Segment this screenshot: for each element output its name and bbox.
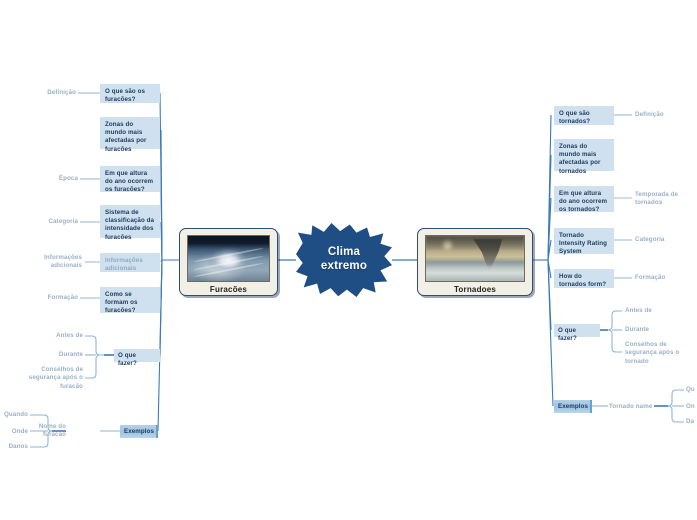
topic-furacoes-exemplos[interactable]: Exemplos — [120, 425, 158, 438]
central-node-label: Clima extremo — [296, 223, 392, 297]
leaf-tornados-danos[interactable]: Da — [686, 418, 697, 426]
topic-furacoes-informacoes-adicionais[interactable]: Informações adicionais — [100, 253, 160, 272]
tornado-image-art — [426, 236, 524, 281]
hurricane-image-art — [188, 236, 269, 281]
leaf-tornados-durante[interactable]: Durante — [625, 326, 685, 334]
leaf-furacoes-quando[interactable]: Quando — [0, 411, 28, 419]
leaf-furacoes-antes-de[interactable]: Antes de — [28, 332, 83, 340]
leaf-furacoes-informacoes-adicionais[interactable]: Informações adicionais — [14, 254, 82, 271]
central-label-line2: extremo — [321, 260, 367, 274]
central-label-line1: Clima — [328, 246, 360, 260]
topic-furacoes-o-que-fazer[interactable]: O que fazer? — [114, 349, 160, 362]
topic-furacoes-definicao[interactable]: O que são os furacões? — [100, 84, 160, 103]
leaf-furacoes-epoca[interactable]: Época — [18, 175, 78, 183]
topic-furacoes-zonas[interactable]: Zonas do mundo mais afectadas por furacõ… — [100, 117, 160, 149]
leaf-tornados-onde[interactable]: On — [686, 403, 697, 411]
topic-tornados-categoria[interactable]: Tornado Intensity Rating System — [554, 228, 614, 254]
topic-tornados-formacao[interactable]: How do tornados form? — [554, 269, 614, 288]
leaf-furacoes-categoria[interactable]: Categoria — [18, 218, 78, 226]
leaf-tornados-categoria[interactable]: Categoria — [635, 236, 693, 244]
topic-furacoes-formacao[interactable]: Como se formam os furacões? — [100, 287, 160, 313]
leaf-tornados-tornado-name[interactable]: Tornado name — [609, 403, 657, 411]
leaf-furacoes-durante[interactable]: Durante — [28, 351, 83, 359]
topic-tornados-o-que-fazer[interactable]: O que fazer? — [554, 324, 600, 337]
leaf-furacoes-conselhos-seguranca[interactable]: Conselhos de segurança após o furacão — [24, 366, 83, 391]
leaf-tornados-conselhos-seguranca[interactable]: Conselhos de segurança após o tornado — [625, 341, 687, 366]
leaf-tornados-formacao[interactable]: Formação — [635, 274, 693, 282]
leaf-tornados-definicao[interactable]: Definição — [635, 111, 695, 119]
leaf-furacoes-danos[interactable]: Danos — [0, 443, 28, 451]
topic-furacoes-epoca[interactable]: Em que altura do ano ocorrem os furacões… — [100, 166, 160, 192]
topic-tornados-temporada[interactable]: Em que altura do ano ocorrem os tornados… — [554, 186, 614, 212]
topic-tornados-definicao[interactable]: O que são tornados? — [554, 106, 614, 125]
leaf-furacoes-nome-do-furacao[interactable]: Nome do furacão — [26, 423, 66, 440]
topic-tornados-exemplos[interactable]: Exemplos — [554, 400, 592, 413]
topic-furacoes-categoria[interactable]: Sistema de classificação da intensidade … — [100, 205, 160, 238]
node-furacoes[interactable]: Furacões — [179, 228, 278, 296]
topic-tornados-zonas[interactable]: Zonas do mundo mais afectadas por tornad… — [554, 139, 614, 171]
leaf-furacoes-formacao[interactable]: Formação — [18, 294, 78, 302]
central-node-clima-extremo[interactable]: Clima extremo — [296, 223, 392, 297]
leaf-tornados-antes-de[interactable]: Antes de — [625, 307, 685, 315]
leaf-furacoes-onde[interactable]: Onde — [0, 428, 28, 436]
node-tornadoes[interactable]: Tornadoes — [417, 228, 533, 296]
node-tornadoes-label: Tornadoes — [425, 285, 525, 294]
mindmap-canvas: Clima extremo Furacões Tornadoes O que s… — [0, 0, 697, 520]
node-furacoes-label: Furacões — [187, 285, 270, 294]
leaf-tornados-temporada[interactable]: Temporada de tornados — [635, 191, 693, 208]
leaf-tornados-quando[interactable]: Qu — [686, 386, 697, 394]
hurricane-satellite-photo — [187, 235, 270, 282]
leaf-furacoes-definicao[interactable]: Definição — [18, 89, 76, 97]
tornado-waterspout-photo — [425, 235, 525, 282]
